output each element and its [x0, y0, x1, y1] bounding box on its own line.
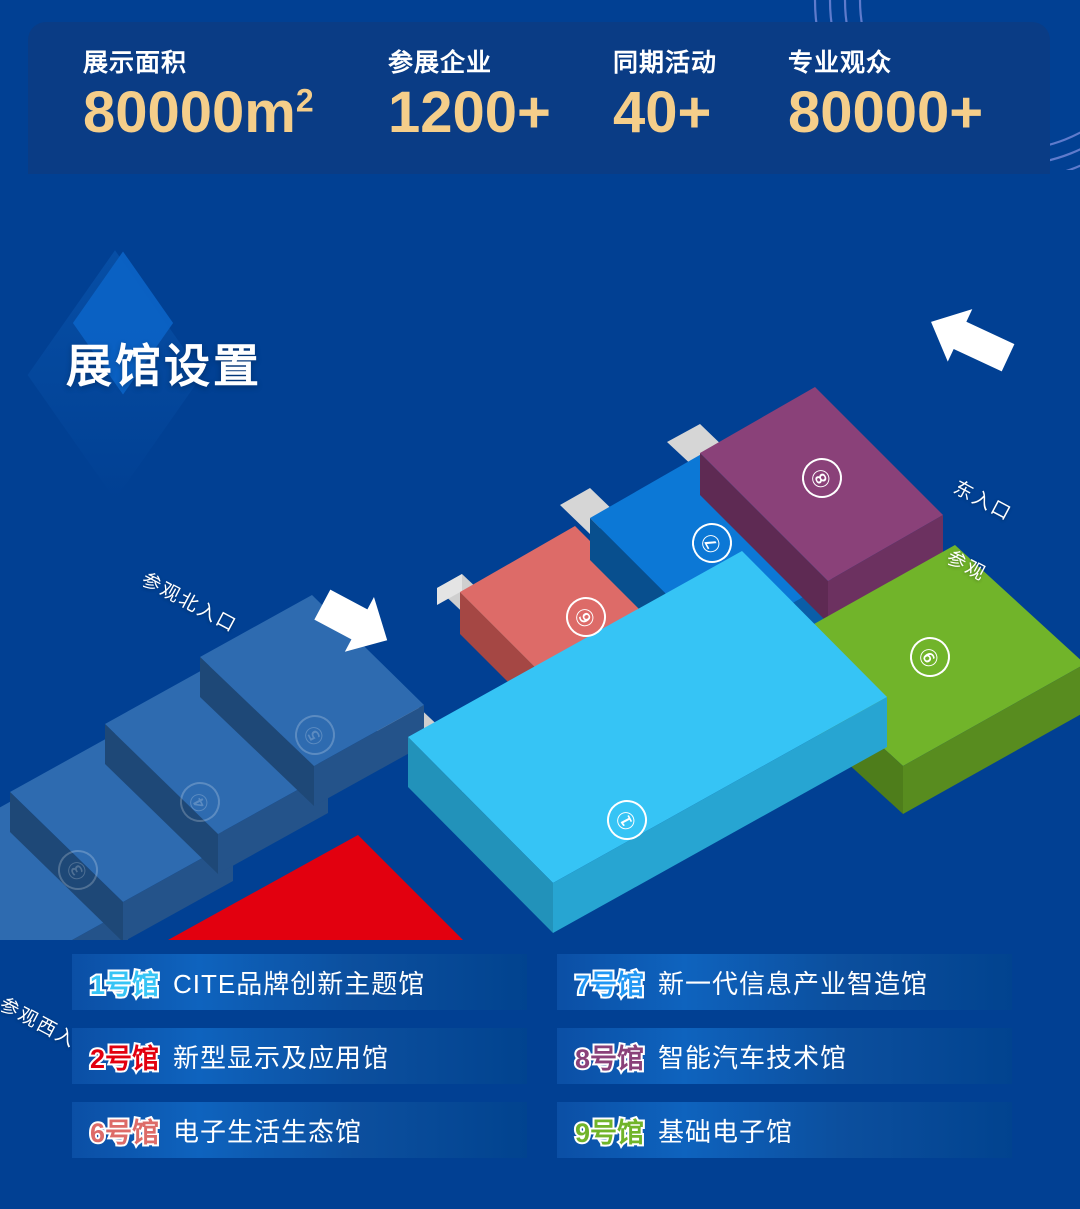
legend-item-hall-6[interactable]: 6号馆 电子生活生态馆: [72, 1102, 527, 1158]
stat-events: 同期活动 40+: [613, 48, 717, 146]
stat-exhibitors: 参展企业 1200+: [388, 48, 551, 146]
legend-badge: 1号馆: [90, 963, 159, 1002]
stat-value: 40+: [613, 80, 717, 146]
poster-root: 展示面积 80000m2 参展企业 1200+ 同期活动 40+ 专业观众 80…: [0, 0, 1080, 1209]
legend-label: 新一代信息产业智造馆: [658, 964, 928, 1001]
stat-label: 专业观众: [788, 48, 983, 78]
legend-item-hall-8[interactable]: 8号馆 智能汽车技术馆: [557, 1028, 1012, 1084]
legend-badge: 2号馆: [90, 1037, 159, 1076]
stat-label: 参展企业: [388, 48, 551, 78]
legend-item-hall-2[interactable]: 2号馆 新型显示及应用馆: [72, 1028, 527, 1084]
legend-label: 基础电子馆: [658, 1112, 793, 1149]
stat-number: 80000m: [83, 80, 296, 145]
hall-legend: 1号馆 CITE品牌创新主题馆 2号馆 新型显示及应用馆 6号馆 电子生活生态馆…: [0, 940, 1080, 1180]
legend-item-hall-1[interactable]: 1号馆 CITE品牌创新主题馆: [72, 954, 527, 1010]
stat-label: 同期活动: [613, 48, 717, 78]
legend-item-hall-9[interactable]: 9号馆 基础电子馆: [557, 1102, 1012, 1158]
legend-badge: 9号馆: [575, 1111, 644, 1150]
legend-label: 电子生活生态馆: [173, 1112, 362, 1149]
stat-value: 80000m2: [83, 80, 314, 146]
legend-label: 智能汽车技术馆: [658, 1038, 847, 1075]
legend-label: CITE品牌创新主题馆: [173, 964, 425, 1001]
stat-value: 1200+: [388, 80, 551, 146]
arrow-east-icon: [919, 296, 1021, 384]
legend-badge: 8号馆: [575, 1037, 644, 1076]
stats-panel: 展示面积 80000m2 参展企业 1200+ 同期活动 40+ 专业观众 80…: [28, 22, 1050, 174]
hall-map-svg: [0, 195, 1080, 940]
exhibition-hall-map: ③ ④ ⑤ ⑥ ⑦ ⑧ ⑨ ① ② 参观北入口 参观西入口 东入口 参观: [0, 195, 1080, 940]
stat-visitors: 专业观众 80000+: [788, 48, 983, 146]
stat-value: 80000+: [788, 80, 983, 146]
stat-superscript: 2: [296, 83, 314, 119]
stat-label: 展示面积: [83, 48, 314, 78]
stat-exhibit-area: 展示面积 80000m2: [83, 48, 314, 146]
legend-item-hall-7[interactable]: 7号馆 新一代信息产业智造馆: [557, 954, 1012, 1010]
legend-label: 新型显示及应用馆: [173, 1038, 389, 1075]
legend-badge: 7号馆: [575, 963, 644, 1002]
legend-badge: 6号馆: [90, 1111, 159, 1150]
